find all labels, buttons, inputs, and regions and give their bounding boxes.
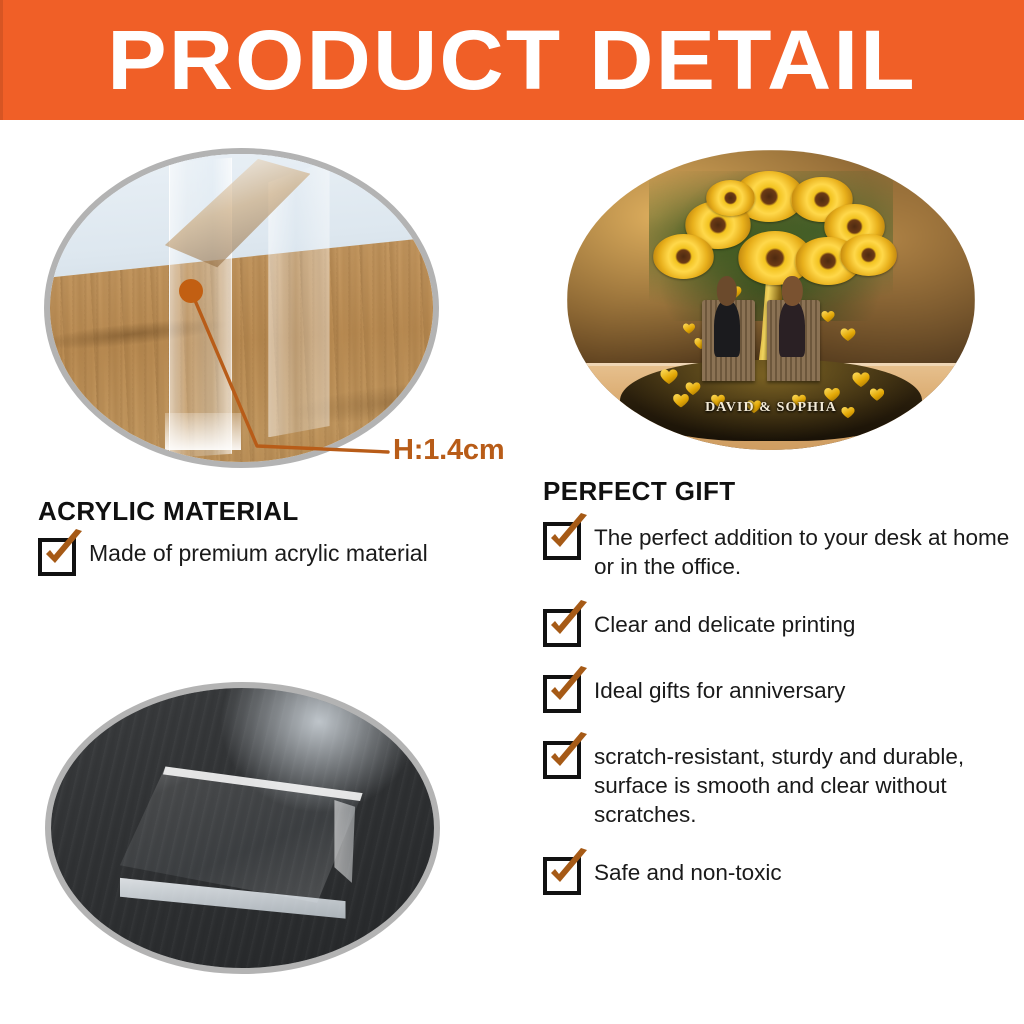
checkbox-checked-icon bbox=[543, 741, 581, 779]
check-mark-glyph bbox=[543, 600, 590, 647]
check-mark-glyph bbox=[543, 732, 590, 779]
list-item: Clear and delicate printing bbox=[543, 607, 1013, 647]
sunflower-head bbox=[706, 180, 755, 216]
page-title: PRODUCT DETAIL bbox=[0, 13, 1024, 107]
checkbox-checked-icon bbox=[543, 857, 581, 895]
checkbox-checked-icon bbox=[543, 609, 581, 647]
person-left bbox=[714, 300, 740, 357]
list-item: The perfect addition to your desk at hom… bbox=[543, 520, 1013, 581]
person-right-head bbox=[782, 276, 802, 306]
bullet-list-acrylic-material: Made of premium acrylic material bbox=[38, 536, 518, 598]
sunflower-head bbox=[653, 234, 714, 279]
list-item: Made of premium acrylic material bbox=[38, 536, 518, 576]
acrylic-slab-photo bbox=[45, 682, 440, 974]
person-left-head bbox=[717, 276, 737, 306]
person-right bbox=[779, 300, 805, 357]
header-banner: PRODUCT DETAIL bbox=[0, 0, 1024, 120]
checkbox-checked-icon bbox=[38, 538, 76, 576]
checkbox-checked-icon bbox=[543, 675, 581, 713]
list-item-label: Clear and delicate printing bbox=[594, 607, 855, 639]
list-item: Safe and non-toxic bbox=[543, 855, 1013, 895]
bullet-list-perfect-gift: The perfect addition to your desk at hom… bbox=[543, 520, 1013, 895]
acrylic-base-highlight bbox=[165, 413, 242, 450]
checkbox-checked-icon bbox=[543, 522, 581, 560]
check-mark-glyph bbox=[543, 513, 590, 560]
section-heading-perfect-gift: PERFECT GIFT bbox=[543, 476, 736, 507]
list-item-label: scratch-resistant, sturdy and durable, s… bbox=[594, 739, 1013, 829]
list-item: Ideal gifts for anniversary bbox=[543, 673, 1013, 713]
list-item-label: The perfect addition to your desk at hom… bbox=[594, 520, 1013, 581]
list-item-label: Made of premium acrylic material bbox=[89, 536, 428, 568]
list-item-label: Safe and non-toxic bbox=[594, 855, 782, 887]
check-mark-glyph bbox=[38, 529, 85, 576]
check-mark-glyph bbox=[543, 666, 590, 713]
sunflower-ornament-photo: DAVID & SOPHIA bbox=[567, 150, 975, 450]
list-item-label: Ideal gifts for anniversary bbox=[594, 673, 845, 705]
engraved-name-text: DAVID & SOPHIA bbox=[567, 400, 975, 416]
acrylic-edge-photo bbox=[44, 148, 439, 468]
list-item: scratch-resistant, sturdy and durable, s… bbox=[543, 739, 1013, 829]
check-mark-glyph bbox=[543, 848, 590, 895]
wood-table-scene bbox=[50, 154, 433, 462]
section-heading-acrylic-material: ACRYLIC MATERIAL bbox=[38, 496, 299, 527]
